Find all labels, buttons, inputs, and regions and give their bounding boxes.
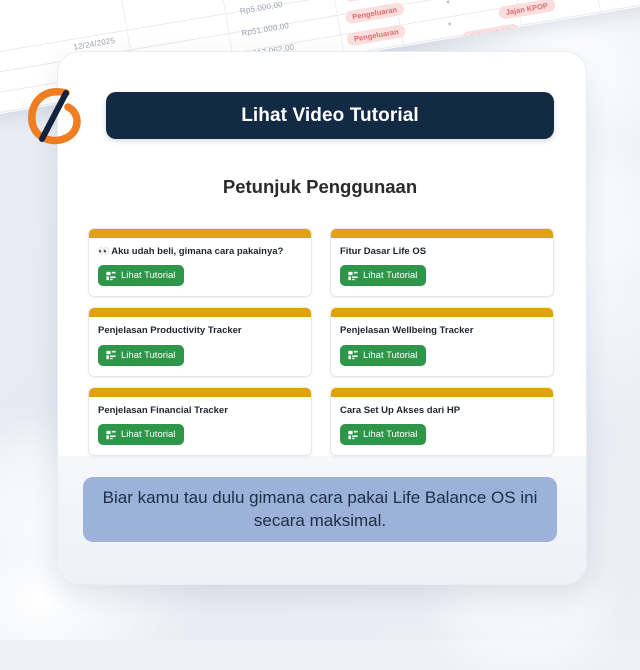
card-accent-bar	[89, 308, 311, 317]
card-accent-bar	[331, 388, 553, 397]
spreadsheet-tag: Pengeluaran	[343, 0, 403, 2]
tutorial-card-title: 👀Aku udah beli, gimana cara pakainya?	[98, 246, 302, 258]
eyes-emoji-icon: 👀	[98, 246, 109, 256]
section-heading: Petunjuk Penggunaan	[0, 176, 640, 198]
life-balance-os-logo	[22, 81, 90, 149]
watch-tutorial-button[interactable]: Lihat Tutorial	[98, 265, 184, 286]
watch-tutorial-label: Lihat Tutorial	[363, 350, 417, 361]
video-tutorial-icon	[348, 430, 358, 440]
spreadsheet-tag: Pengeluaran	[346, 24, 406, 47]
watch-tutorial-button[interactable]: Lihat Tutorial	[340, 424, 426, 445]
page-title: Lihat Video Tutorial	[241, 105, 419, 127]
tutorial-card: Penjelasan Wellbeing Tracker Lihat Tutor…	[330, 307, 554, 376]
card-accent-bar	[331, 308, 553, 317]
tutorial-card-title: Cara Set Up Akses dari HP	[340, 405, 544, 417]
chevron-down-icon: ▾	[446, 0, 451, 7]
watch-tutorial-label: Lihat Tutorial	[363, 270, 417, 281]
video-tutorial-icon	[106, 430, 116, 440]
tutorial-card-title: Penjelasan Productivity Tracker	[98, 325, 302, 337]
tutorial-card: Penjelasan Financial Tracker Lihat Tutor…	[88, 387, 312, 456]
card-accent-bar	[89, 388, 311, 397]
watch-tutorial-label: Lihat Tutorial	[121, 350, 175, 361]
tutorial-title-text: Aku udah beli, gimana cara pakainya?	[111, 246, 283, 257]
spreadsheet-cell: Rp51.000,00	[241, 21, 290, 38]
spreadsheet-tag: Pengeluaran	[344, 2, 404, 25]
video-tutorial-icon	[348, 350, 358, 360]
tutorial-card-title: Fitur Dasar Life OS	[340, 246, 544, 258]
chevron-down-icon: ▾	[447, 20, 452, 28]
spreadsheet-cell: Rp5.000,00	[239, 0, 283, 16]
card-accent-bar	[331, 229, 553, 238]
watch-tutorial-label: Lihat Tutorial	[363, 429, 417, 440]
video-tutorial-icon	[106, 350, 116, 360]
info-notice-text: Biar kamu tau dulu gimana cara pakai Lif…	[99, 487, 541, 533]
spreadsheet-tag: Jajan KPOP	[498, 0, 556, 20]
card-accent-bar	[89, 229, 311, 238]
watch-tutorial-button[interactable]: Lihat Tutorial	[98, 424, 184, 445]
tutorial-card: 👀Aku udah beli, gimana cara pakainya? Li…	[88, 228, 312, 297]
watch-tutorial-button[interactable]: Lihat Tutorial	[340, 345, 426, 366]
tutorial-card: Cara Set Up Akses dari HP Lihat Tutorial	[330, 387, 554, 456]
watch-tutorial-button[interactable]: Lihat Tutorial	[98, 345, 184, 366]
info-notice-banner: Biar kamu tau dulu gimana cara pakai Lif…	[83, 477, 557, 542]
video-tutorial-icon	[106, 271, 116, 281]
tutorial-card: Penjelasan Productivity Tracker Lihat Tu…	[88, 307, 312, 376]
tutorial-card-grid: 👀Aku udah beli, gimana cara pakainya? Li…	[88, 228, 552, 456]
tutorial-card: Fitur Dasar Life OS Lihat Tutorial	[330, 228, 554, 297]
tutorial-card-title: Penjelasan Wellbeing Tracker	[340, 325, 544, 337]
page-title-banner: Lihat Video Tutorial	[106, 92, 554, 139]
watch-tutorial-label: Lihat Tutorial	[121, 270, 175, 281]
watch-tutorial-button[interactable]: Lihat Tutorial	[340, 265, 426, 286]
tutorial-card-title: Penjelasan Financial Tracker	[98, 405, 302, 417]
watch-tutorial-label: Lihat Tutorial	[121, 429, 175, 440]
video-tutorial-icon	[348, 271, 358, 281]
